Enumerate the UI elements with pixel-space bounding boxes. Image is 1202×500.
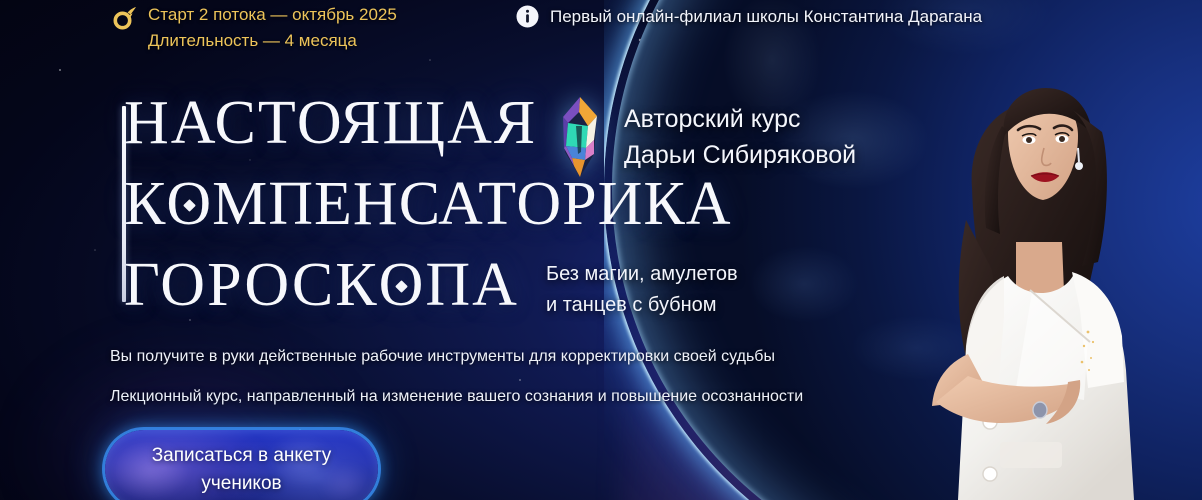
headline-gem-o-1: О [166, 173, 212, 235]
headline-gem-o-2: О [379, 254, 426, 316]
headline-line-2-part-b: МПЕНСАТОРИКА [212, 170, 731, 238]
promo-line-start: Старт 2 потока — октябрь 2025 [148, 4, 397, 25]
body-paragraph-1: Вы получите в руки действенные рабочие и… [110, 347, 803, 367]
cta-label: Записаться в анкету учеников [105, 430, 378, 500]
enroll-button[interactable]: Записаться в анкету учеников [105, 430, 378, 500]
school-text: Первый онлайн-филиал школы Константина Д… [550, 6, 982, 28]
comet-icon [112, 5, 138, 31]
school-affiliation: Первый онлайн-филиал школы Константина Д… [516, 5, 982, 28]
hero-banner: Старт 2 потока — октябрь 2025 Длительнос… [0, 0, 1202, 500]
author-block: Авторский курс Дарьи Сибиряковой [552, 96, 856, 178]
crystal-gem-icon [552, 96, 608, 178]
author-line-1: Авторский курс [624, 104, 856, 134]
info-icon [516, 5, 539, 28]
headline-line-2-part-a: К [124, 170, 166, 238]
cta-label-line-1: Записаться в анкету [152, 443, 332, 468]
subtitle-line-1: Без магии, амулетов [546, 262, 738, 287]
cta-label-line-2: учеников [201, 471, 281, 496]
headline-line-3-part-a: ГОРОСК [124, 251, 379, 319]
top-info-bar: Старт 2 потока — октябрь 2025 Длительнос… [0, 0, 1202, 62]
subtitle-block: Без магии, амулетов и танцев с бубном [546, 262, 738, 318]
promo-line-duration: Длительность — 4 месяца [148, 30, 397, 51]
author-line-2: Дарьи Сибиряковой [624, 140, 856, 170]
promo-block: Старт 2 потока — октябрь 2025 Длительнос… [112, 4, 512, 51]
headline-line-2: КОМПЕНСАТОРИКА [124, 173, 732, 235]
body-copy: Вы получите в руки действенные рабочие и… [110, 347, 803, 407]
body-paragraph-2: Лекционный курс, направленный на изменен… [110, 387, 803, 407]
headline-decorative-stem [122, 106, 126, 302]
headline-line-3-part-b: ПА [425, 251, 519, 319]
subtitle-line-2: и танцев с бубном [546, 293, 738, 318]
